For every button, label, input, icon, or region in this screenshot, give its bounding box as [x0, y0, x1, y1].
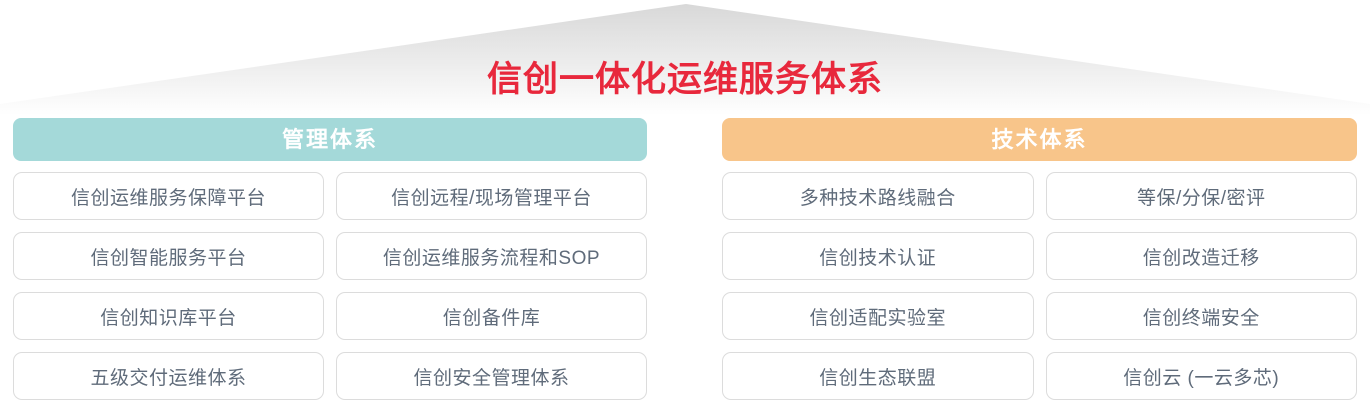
- page-title: 信创一体化运维服务体系: [0, 58, 1370, 102]
- list-item[interactable]: 信创改造迁移: [1046, 232, 1358, 280]
- list-item[interactable]: 信创终端安全: [1046, 292, 1358, 340]
- section-management: 管理体系 信创运维服务保障平台 信创远程/现场管理平台 信创智能服务平台 信创运…: [13, 118, 647, 400]
- section-header-technology: 技术体系: [722, 118, 1357, 161]
- list-item[interactable]: 信创远程/现场管理平台: [336, 172, 647, 220]
- list-item[interactable]: 信创运维服务流程和SOP: [336, 232, 647, 280]
- list-item[interactable]: 等保/分保/密评: [1046, 172, 1358, 220]
- list-item[interactable]: 五级交付运维体系: [13, 352, 324, 400]
- list-item[interactable]: 信创知识库平台: [13, 292, 324, 340]
- section-technology-grid: 多种技术路线融合 等保/分保/密评 信创技术认证 信创改造迁移 信创适配实验室 …: [722, 172, 1357, 400]
- list-item[interactable]: 信创生态联盟: [722, 352, 1034, 400]
- section-management-grid: 信创运维服务保障平台 信创远程/现场管理平台 信创智能服务平台 信创运维服务流程…: [13, 172, 647, 400]
- section-technology: 技术体系 多种技术路线融合 等保/分保/密评 信创技术认证 信创改造迁移 信创适…: [722, 118, 1357, 400]
- list-item[interactable]: 信创云 (一云多芯): [1046, 352, 1358, 400]
- list-item[interactable]: 信创技术认证: [722, 232, 1034, 280]
- list-item[interactable]: 多种技术路线融合: [722, 172, 1034, 220]
- section-header-management: 管理体系: [13, 118, 647, 161]
- list-item[interactable]: 信创运维服务保障平台: [13, 172, 324, 220]
- list-item[interactable]: 信创安全管理体系: [336, 352, 647, 400]
- list-item[interactable]: 信创适配实验室: [722, 292, 1034, 340]
- list-item[interactable]: 信创智能服务平台: [13, 232, 324, 280]
- list-item[interactable]: 信创备件库: [336, 292, 647, 340]
- diagram-canvas: 信创一体化运维服务体系 管理体系 信创运维服务保障平台 信创远程/现场管理平台 …: [0, 0, 1370, 418]
